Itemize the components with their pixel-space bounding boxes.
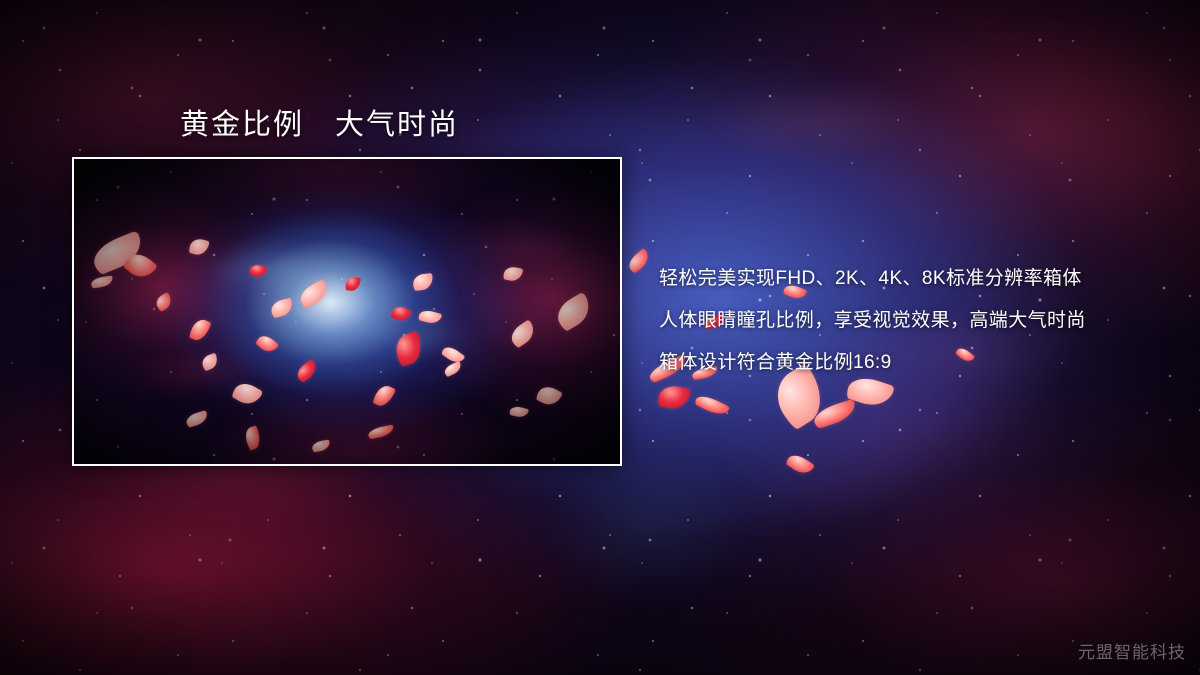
page-title: 黄金比例 大气时尚 (180, 101, 459, 143)
framed-photo[interactable] (72, 157, 622, 466)
photo-vignette (74, 159, 620, 464)
body-line: 箱体设计符合黄金比例16:9 (659, 342, 1179, 384)
body-line: 轻松完美实现FHD、2K、4K、8K标准分辨率箱体 (659, 258, 1179, 300)
body-copy: 轻松完美实现FHD、2K、4K、8K标准分辨率箱体 人体眼睛瞳孔比例，享受视觉效… (659, 258, 1179, 384)
body-line: 人体眼睛瞳孔比例，享受视觉效果，高端大气时尚 (659, 300, 1179, 342)
watermark: 元盟智能科技 (1078, 638, 1186, 663)
slide-canvas: 黄金比例 大气时尚 轻松完美实现FHD、2K、4K、8K标准分辨率箱体 人体眼睛… (0, 0, 1200, 675)
